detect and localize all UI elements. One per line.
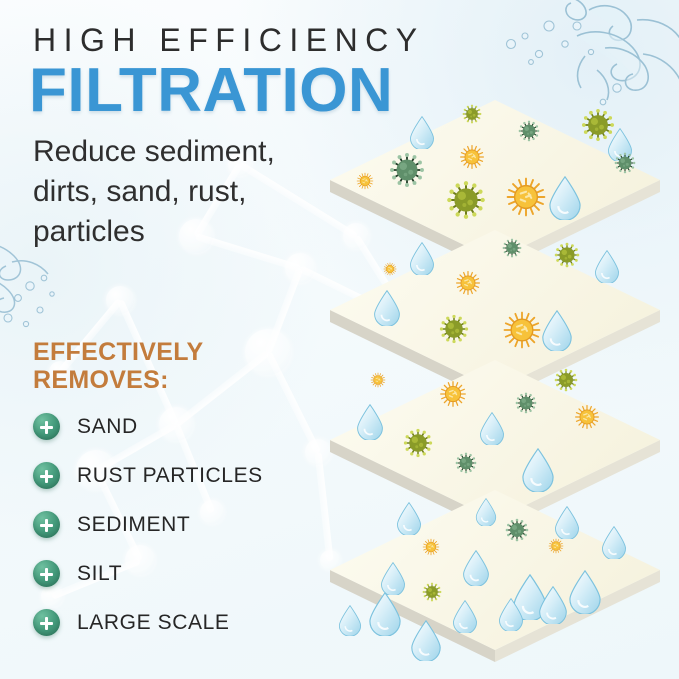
subheading-line-1: Reduce sediment, (33, 132, 275, 172)
rust-particle-icon (439, 380, 467, 413)
list-item-label: SAND (77, 415, 138, 439)
contaminant-particle-icon (515, 392, 537, 419)
clean-water-droplet-icon (410, 620, 442, 666)
clean-water-droplet-icon (498, 598, 524, 636)
benefits-list: SANDRUST PARTICLESSEDIMENTSILTLARGE SCAL… (33, 402, 263, 647)
plus-icon (33, 462, 60, 489)
removes-heading: EFFECTIVELY REMOVES: (33, 338, 203, 394)
clean-water-droplet-icon (568, 570, 602, 619)
list-item: LARGE SCALE (33, 598, 263, 647)
water-droplet-icon (409, 242, 435, 280)
rust-particle-icon (502, 310, 542, 355)
water-droplet-icon (594, 250, 620, 288)
contaminant-particle-icon (502, 238, 522, 263)
water-droplet-icon (548, 176, 582, 225)
molecule-node (106, 286, 134, 314)
contaminant-particle-icon (389, 152, 425, 193)
clean-water-droplet-icon (452, 600, 478, 638)
plus-icon (33, 560, 60, 587)
filter-layer-4 (330, 490, 660, 679)
rust-particle-icon (459, 144, 485, 175)
removes-heading-line-1: EFFECTIVELY (33, 338, 203, 366)
list-item-label: SILT (77, 562, 122, 586)
rust-particle-icon (455, 270, 481, 301)
list-item: SAND (33, 402, 263, 451)
list-item: SILT (33, 549, 263, 598)
contaminant-particle-icon (403, 428, 433, 463)
clean-water-droplet-icon (538, 586, 568, 629)
rust-particle-icon (505, 176, 547, 223)
headline-small: HIGH EFFICIENCY (33, 22, 425, 59)
subheading: Reduce sediment, dirts, sand, rust, part… (33, 132, 275, 252)
subheading-line-3: particles (33, 212, 275, 252)
contaminant-particle-icon (446, 180, 486, 225)
water-droplet-icon (396, 502, 422, 540)
rust-particle-icon (383, 262, 397, 281)
subheading-line-2: dirts, sand, rust, (33, 172, 275, 212)
molecule-node (305, 439, 331, 465)
removes-heading-line-2: REMOVES: (33, 366, 203, 394)
water-droplet-icon (356, 404, 384, 445)
contaminant-particle-icon (505, 518, 529, 547)
water-droplet-icon (601, 526, 627, 564)
water-droplet-icon (462, 550, 490, 591)
water-droplet-icon (409, 116, 435, 154)
filtration-layers-diagram (330, 100, 679, 660)
plus-icon (33, 609, 60, 636)
rust-particle-icon (574, 404, 600, 435)
water-droplet-icon (541, 310, 573, 356)
water-droplet-icon (373, 290, 401, 331)
plus-icon (33, 511, 60, 538)
poster-canvas: HIGH EFFICIENCY FILTRATION Reduce sedime… (0, 0, 679, 679)
molecule-bond (265, 350, 321, 453)
molecule-node (245, 329, 291, 375)
contaminant-particle-icon (455, 452, 477, 479)
rust-particle-icon (356, 172, 374, 195)
rust-particle-icon (548, 538, 564, 559)
list-item: RUST PARTICLES (33, 451, 263, 500)
list-item-label: RUST PARTICLES (77, 464, 263, 488)
contaminant-particle-icon (439, 314, 469, 349)
water-droplet-icon (475, 498, 497, 531)
rust-particle-icon (422, 538, 440, 561)
list-item-label: LARGE SCALE (77, 611, 230, 635)
contaminant-particle-icon (518, 120, 540, 147)
clean-water-droplet-icon (368, 592, 402, 641)
plus-icon (33, 413, 60, 440)
molecule-bond (265, 267, 304, 353)
molecule-node (285, 253, 315, 283)
contaminant-particle-icon (462, 104, 482, 129)
list-item: SEDIMENT (33, 500, 263, 549)
clean-water-droplet-icon (338, 605, 362, 641)
contaminant-particle-icon (554, 242, 580, 273)
water-droplet-icon (479, 412, 505, 450)
list-item-label: SEDIMENT (77, 513, 190, 537)
rust-particle-icon (370, 372, 386, 393)
contaminant-particle-icon (614, 152, 636, 179)
contaminant-particle-icon (422, 582, 442, 607)
contaminant-particle-icon (554, 368, 578, 397)
